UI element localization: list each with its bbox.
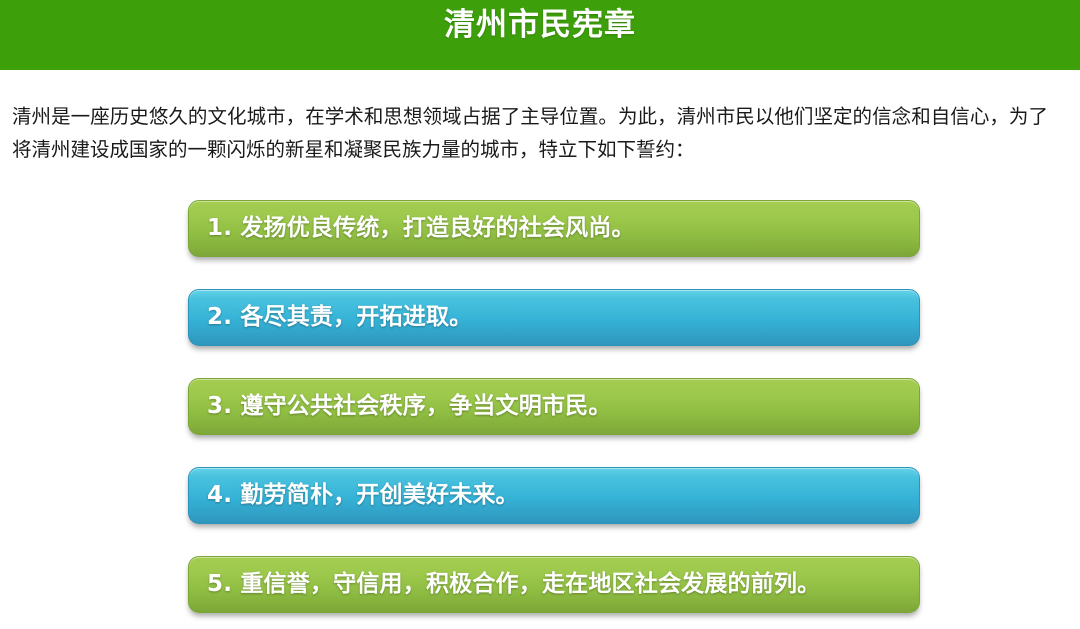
pledge-item-4: 4. 勤劳简朴，开创美好未来。 [188,467,920,524]
pledge-item-2-label: 2. 各尽其责，开拓进取。 [207,306,472,329]
pledge-item-1-label: 1. 发扬优良传统，打造良好的社会风尚。 [207,217,635,240]
pledge-item-5-label: 5. 重信誉，守信用，积极合作，走在地区社会发展的前列。 [207,573,820,596]
pledge-item-1: 1. 发扬优良传统，打造良好的社会风尚。 [188,200,920,257]
pledge-item-3-label: 3. 遵守公共社会秩序，争当文明市民。 [207,395,612,418]
pledge-item-3: 3. 遵守公共社会秩序，争当文明市民。 [188,378,920,435]
intro-paragraph: 清州是一座历史悠久的文化城市，在学术和思想领域占据了主导位置。为此，清州市民以他… [0,70,1058,166]
pledge-item-2: 2. 各尽其责，开拓进取。 [188,289,920,346]
pledge-item-4-label: 4. 勤劳简朴，开创美好未来。 [207,484,519,507]
page-title: 清州市民宪章 [444,10,636,41]
pledge-list: 1. 发扬优良传统，打造良好的社会风尚。 2. 各尽其责，开拓进取。 3. 遵守… [188,200,920,613]
pledge-item-5: 5. 重信誉，守信用，积极合作，走在地区社会发展的前列。 [188,556,920,613]
page-header-banner: 清州市民宪章 [0,0,1080,70]
